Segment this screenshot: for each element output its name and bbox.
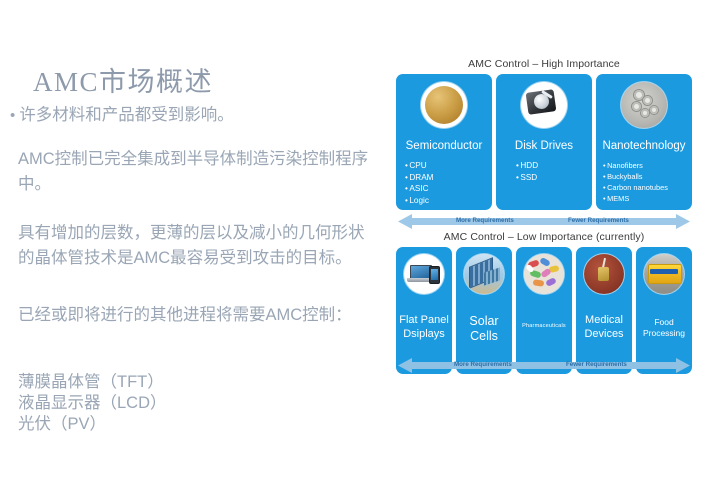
arrow-label-fewer: Fewer Requirements (568, 217, 629, 224)
panel-title: Medical Devices (576, 314, 632, 341)
food-package-icon (644, 254, 684, 294)
panel-flat-panel-displays[interactable]: Flat Panel Dsiplays (396, 247, 452, 374)
body-paragraph-2: AMC控制已完全集成到半导体制造污染控制程序中。 (18, 147, 380, 197)
list-item: Logic (405, 195, 492, 207)
panel-bullet-list: Nanofibers Buckyballs Carbon nanotubes M… (596, 160, 692, 204)
list-item: DRAM (405, 172, 492, 184)
panel-disk-drives[interactable]: Disk Drives HDD SSD (496, 74, 592, 210)
slide-canvas: AMC市场概述 • 许多材料和产品都受到影响。 AMC控制已完全集成到半导体制造… (0, 0, 702, 496)
panel-medical-devices[interactable]: Medical Devices (576, 247, 632, 374)
arrow-label-more: More Requirements (456, 217, 514, 224)
body-line-pv: 光伏（PV） (18, 412, 380, 437)
panel-title: Food Processing (636, 317, 692, 339)
list-item: CPU (405, 160, 492, 172)
list-item: Carbon nanotubes (603, 182, 692, 193)
list-item: Buckyballs (603, 171, 692, 182)
list-item: SSD (516, 172, 592, 184)
high-importance-panels: Semiconductor CPU DRAM ASIC Logic Disk D… (396, 74, 692, 210)
list-item: Nanofibers (603, 160, 692, 171)
double-arrow-icon (396, 213, 692, 230)
high-requirements-arrow: More Requirements Fewer Requirements (396, 213, 692, 230)
panel-semiconductor[interactable]: Semiconductor CPU DRAM ASIC Logic (396, 74, 492, 210)
hard-disk-drive-icon (521, 82, 567, 128)
paragraph-text: 许多材料和产品都受到影响。 (19, 103, 234, 128)
page-title: AMC市场概述 (33, 60, 213, 99)
low-requirements-arrow: More Requirements Fewer Requirements (396, 357, 692, 374)
high-importance-heading: AMC Control – High Importance (396, 58, 692, 70)
panel-food-processing[interactable]: Food Processing (636, 247, 692, 374)
body-paragraph-4: 已经或即将进行的其他进程将需要AMC控制： (18, 303, 380, 328)
list-item: HDD (516, 160, 592, 172)
low-importance-panels: Flat Panel Dsiplays Solar Cells (396, 247, 692, 374)
silicon-wafer-icon (421, 82, 467, 128)
panel-solar-cells[interactable]: Solar Cells (456, 247, 512, 374)
panel-title: Pharmaceuticals (522, 320, 566, 333)
arrow-label-more: More Requirements (454, 361, 512, 368)
text-column: AMC市场概述 • 许多材料和产品都受到影响。 AMC控制已完全集成到半导体制造… (0, 0, 392, 496)
list-item: ASIC (405, 183, 492, 195)
panel-bullet-list: CPU DRAM ASIC Logic (396, 160, 492, 206)
double-arrow-icon (396, 357, 692, 374)
low-importance-section: Flat Panel Dsiplays Solar Cells (396, 247, 692, 374)
panel-title: Solar Cells (456, 314, 512, 344)
panel-title: Disk Drives (515, 140, 573, 153)
amc-control-diagram: AMC Control – High Importance Semiconduc… (396, 58, 692, 388)
panel-title: Semiconductor (406, 140, 483, 153)
low-importance-heading: AMC Control – Low Importance (currently) (396, 231, 692, 243)
medical-device-icon (584, 254, 624, 294)
panel-pharmaceuticals[interactable]: Pharmaceuticals (516, 247, 572, 374)
nanotechnology-gears-icon (621, 82, 667, 128)
laptop-and-phone-icon (404, 254, 444, 294)
body-paragraph-3: 具有增加的层数，更薄的层以及减小的几何形状的晶体管技术是AMC最容易受到攻击的目… (18, 221, 380, 271)
panel-title: Nanotechnology (602, 140, 685, 153)
pills-icon (524, 254, 564, 294)
panel-nanotechnology[interactable]: Nanotechnology Nanofibers Buckyballs Car… (596, 74, 692, 210)
solar-panel-icon (464, 254, 504, 294)
body-paragraph-1: • 许多材料和产品都受到影响。 (10, 103, 380, 128)
bullet-dot: • (10, 103, 15, 128)
list-item: MEMS (603, 193, 692, 204)
arrow-label-fewer: Fewer Requirements (566, 361, 627, 368)
panel-title: Flat Panel Dsiplays (396, 314, 452, 341)
panel-bullet-list: HDD SSD (496, 160, 592, 183)
